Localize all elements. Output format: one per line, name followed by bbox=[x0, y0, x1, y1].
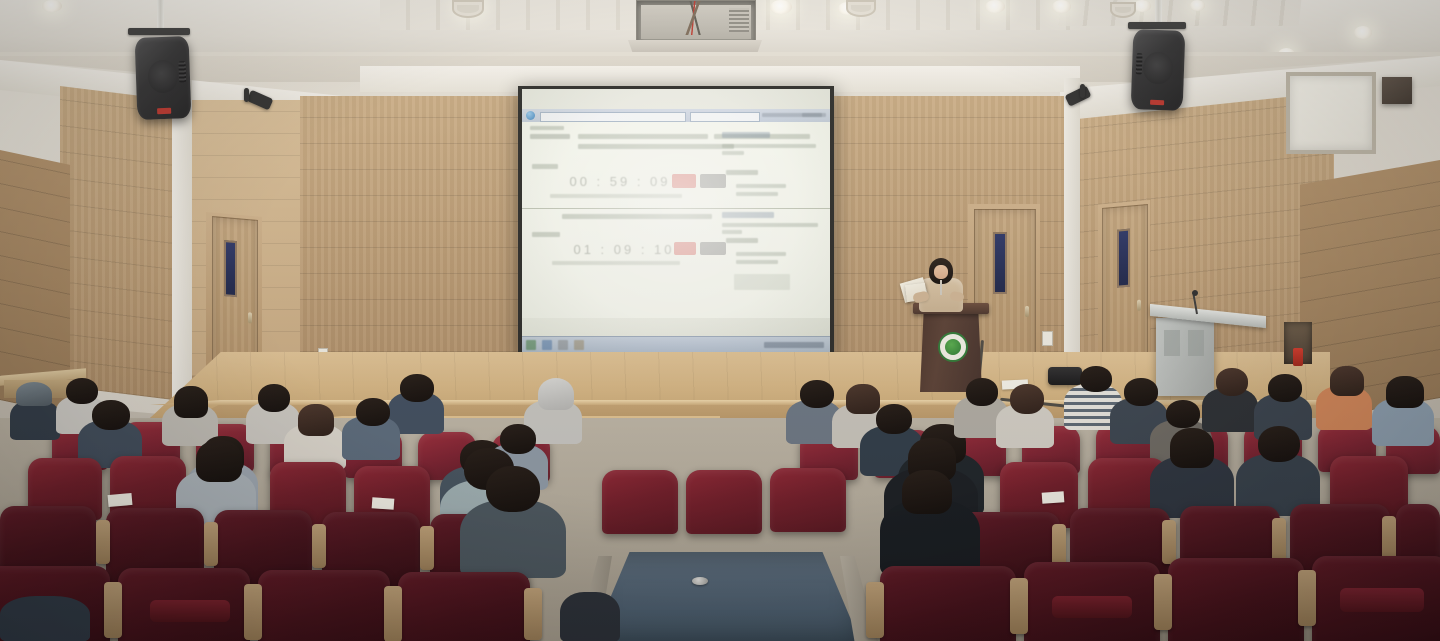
speaker-mount-bracket bbox=[1128, 22, 1186, 29]
projection-screen: 00 : 59 : 09 01 : 09 : 10 bbox=[522, 89, 830, 353]
cancel-button[interactable] bbox=[700, 174, 726, 188]
ceiling-vent bbox=[1110, 2, 1136, 18]
wall-mounted-control-panel bbox=[1382, 77, 1412, 104]
audience-head bbox=[902, 470, 952, 514]
presenter-face bbox=[934, 265, 948, 279]
unit-labels bbox=[552, 261, 680, 265]
door-handle[interactable] bbox=[1025, 306, 1029, 317]
sidebar-list-item[interactable] bbox=[736, 260, 778, 264]
audience-member bbox=[0, 596, 90, 641]
auditorium-seat[interactable] bbox=[1168, 558, 1304, 641]
black-bag-on-stage bbox=[1048, 367, 1082, 385]
wall-pilaster bbox=[1064, 78, 1080, 398]
recessed-downlight bbox=[1190, 0, 1205, 11]
audience-member bbox=[10, 400, 60, 440]
site-navigation[interactable] bbox=[578, 144, 734, 149]
seat-cushion bbox=[1052, 596, 1132, 618]
door-viewport-window bbox=[224, 240, 237, 297]
cancel-button[interactable] bbox=[700, 242, 726, 255]
search-input[interactable] bbox=[540, 112, 686, 122]
projector-vent-grill bbox=[729, 8, 749, 32]
auditorium-seat[interactable] bbox=[602, 470, 678, 534]
fire-extinguisher[interactable] bbox=[1293, 348, 1303, 366]
door-stage-right-a[interactable] bbox=[974, 209, 1036, 375]
audience-head bbox=[500, 424, 536, 454]
speaker-port bbox=[1136, 53, 1143, 74]
wall-switch-plate[interactable] bbox=[1042, 331, 1053, 346]
sidebar-list-title bbox=[726, 238, 758, 243]
site-navigation[interactable] bbox=[530, 126, 564, 130]
confirm-button[interactable] bbox=[672, 174, 696, 188]
sidebar-image bbox=[734, 274, 790, 290]
audience-head bbox=[800, 380, 834, 408]
seat-armrest bbox=[420, 526, 434, 570]
confirm-button[interactable] bbox=[674, 242, 696, 255]
audience-head bbox=[966, 378, 998, 406]
sidebar-body bbox=[722, 151, 744, 155]
audience-head bbox=[196, 440, 242, 482]
door-handle[interactable] bbox=[1137, 300, 1141, 311]
browser-logo-icon bbox=[526, 111, 535, 120]
audience-head bbox=[174, 386, 208, 418]
web-browser-window[interactable] bbox=[522, 109, 830, 123]
seat-armrest bbox=[384, 586, 402, 641]
audience-head bbox=[1216, 368, 1248, 396]
door-handle[interactable] bbox=[248, 312, 252, 323]
projection-booth-window bbox=[1286, 72, 1376, 154]
sidebar-list-item[interactable] bbox=[736, 252, 786, 256]
speaker-brand-logo bbox=[1150, 99, 1164, 105]
sidebar-list-item[interactable] bbox=[736, 192, 778, 196]
browser-window-controls[interactable] bbox=[802, 113, 826, 117]
site-navigation[interactable] bbox=[530, 134, 570, 139]
presenter-lanyard bbox=[940, 280, 942, 295]
seat-armrest bbox=[524, 588, 542, 640]
recessed-downlight bbox=[1354, 26, 1372, 39]
auditorium-seat[interactable] bbox=[880, 566, 1016, 641]
screen-blank-top bbox=[522, 89, 830, 109]
note-paper bbox=[372, 497, 395, 510]
audience-member bbox=[560, 592, 620, 641]
sidebar-title bbox=[722, 212, 774, 218]
sidebar-body bbox=[722, 223, 818, 227]
audience-head bbox=[1386, 376, 1424, 408]
auditorium-seat[interactable] bbox=[398, 572, 530, 641]
seat-armrest bbox=[1382, 516, 1396, 560]
audience-head bbox=[876, 404, 912, 434]
seat-armrest bbox=[1010, 578, 1028, 634]
wood-wall-panel-center-left bbox=[300, 96, 520, 378]
taskbar-start-icon[interactable] bbox=[526, 340, 536, 350]
browser-tab[interactable] bbox=[690, 112, 760, 122]
door-viewport-window bbox=[993, 232, 1007, 294]
sidebar-list-title bbox=[726, 170, 758, 175]
recessed-downlight bbox=[985, 0, 1005, 13]
sidebar-title bbox=[722, 132, 770, 138]
speaker-driver-cone bbox=[1143, 52, 1173, 85]
wall-pilaster bbox=[172, 80, 192, 398]
system-tray[interactable] bbox=[764, 342, 824, 348]
audience-head bbox=[400, 374, 434, 402]
audience-head bbox=[486, 466, 540, 512]
audience-head bbox=[1080, 366, 1112, 392]
seat-cushion bbox=[150, 600, 230, 622]
microphone-capsule bbox=[1192, 290, 1198, 296]
sidebar-body bbox=[722, 144, 816, 148]
site-navigation[interactable] bbox=[578, 134, 708, 139]
auditorium-seat[interactable] bbox=[258, 570, 390, 641]
countdown-digits: 01 : 09 : 10 bbox=[554, 242, 694, 257]
audience-head bbox=[258, 384, 290, 412]
windows-taskbar[interactable] bbox=[522, 336, 830, 353]
taskbar-app-icon[interactable] bbox=[558, 340, 568, 350]
door-viewport-window bbox=[1117, 229, 1130, 288]
seat-armrest bbox=[1298, 570, 1316, 626]
track-light-right-arm bbox=[1080, 84, 1085, 98]
taskbar-app-icon[interactable] bbox=[542, 340, 552, 350]
lectern-front-panel bbox=[1188, 330, 1204, 356]
recessed-downlight bbox=[42, 0, 62, 12]
ceiling-speaker-right bbox=[1131, 29, 1186, 111]
speaker-brand-logo bbox=[157, 108, 171, 114]
seat-armrest bbox=[1272, 518, 1286, 562]
seat-cushion bbox=[1340, 588, 1424, 612]
track-light-left-arm bbox=[244, 88, 249, 102]
projector-access-recess bbox=[636, 0, 756, 44]
speaker-port bbox=[179, 61, 186, 83]
sidebar-body bbox=[722, 230, 742, 234]
hooded-sweatshirt-hood bbox=[538, 378, 574, 410]
speaker-driver-cone bbox=[147, 59, 178, 93]
audience-head bbox=[1124, 378, 1158, 406]
audience-head bbox=[92, 400, 130, 430]
panel-divider bbox=[522, 208, 830, 209]
audience-head bbox=[1166, 400, 1200, 428]
recessed-downlight bbox=[770, 0, 792, 14]
seat-armrest bbox=[866, 582, 884, 638]
auditorium-seat[interactable] bbox=[686, 470, 762, 534]
audience-head bbox=[1258, 426, 1300, 462]
audience-head bbox=[1010, 384, 1044, 414]
baseball-cap bbox=[16, 382, 52, 406]
site-navigation[interactable] bbox=[562, 214, 712, 219]
section-label bbox=[532, 232, 560, 237]
seat-armrest bbox=[96, 520, 110, 564]
seat-armrest bbox=[1154, 574, 1172, 630]
seat-armrest bbox=[312, 524, 326, 568]
seat-armrest bbox=[104, 582, 122, 638]
ceiling-vent bbox=[846, 0, 876, 17]
audience-head bbox=[846, 384, 880, 414]
speaker-mount-bracket bbox=[128, 28, 190, 35]
sidebar-list-item[interactable] bbox=[736, 184, 786, 188]
auditorium-scene: 00 : 59 : 09 01 : 09 : 10 bbox=[0, 0, 1440, 641]
taskbar-app-icon[interactable] bbox=[574, 340, 584, 350]
emblem-inner-mark bbox=[945, 339, 961, 355]
ceiling-speaker-left bbox=[135, 36, 192, 120]
unit-labels bbox=[550, 194, 682, 198]
audience-head bbox=[66, 378, 98, 404]
audience-head bbox=[1330, 366, 1364, 396]
center-aisle-carpet bbox=[592, 552, 860, 641]
audience-head bbox=[1170, 428, 1214, 468]
seat-armrest bbox=[1162, 520, 1176, 564]
audience-head bbox=[356, 398, 390, 426]
auditorium-seat[interactable] bbox=[770, 468, 846, 532]
seat-armrest bbox=[244, 584, 262, 640]
section-label bbox=[532, 164, 558, 169]
projector-cables bbox=[679, 1, 713, 35]
ceiling-vent bbox=[452, 0, 484, 18]
av-control-lectern[interactable] bbox=[1156, 318, 1214, 396]
lectern-front-panel bbox=[1164, 330, 1180, 356]
web-page-content: 00 : 59 : 09 01 : 09 : 10 bbox=[522, 122, 830, 318]
seat-armrest bbox=[204, 522, 218, 566]
recessed-downlight bbox=[1052, 0, 1071, 13]
note-paper bbox=[1042, 491, 1065, 504]
audience-head bbox=[298, 404, 334, 436]
floor-outlet-plate[interactable] bbox=[692, 577, 708, 585]
university-emblem bbox=[938, 332, 968, 362]
note-paper bbox=[108, 493, 133, 507]
countdown-digits: 00 : 59 : 09 bbox=[550, 174, 690, 189]
audience-head bbox=[1268, 374, 1302, 402]
